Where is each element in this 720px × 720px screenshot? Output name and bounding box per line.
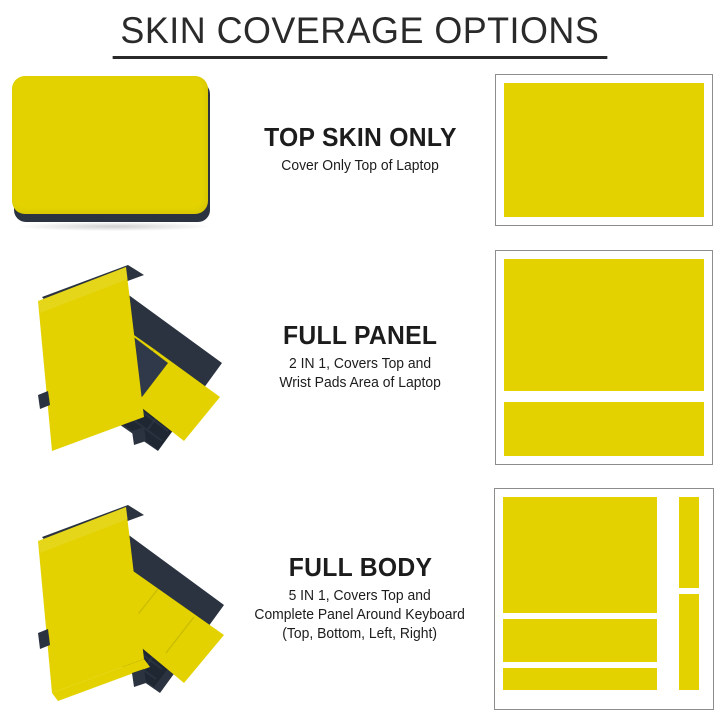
option-row-full-body: FULL BODY 5 IN 1, Covers Top and Complet… [0, 477, 720, 720]
option-description: Cover Only Top of Laptop [281, 157, 439, 176]
option-description-line: 2 IN 1, Covers Top and [279, 355, 440, 374]
option-title: FULL BODY [288, 553, 431, 582]
skin-piece-wrist-pad [504, 402, 704, 455]
option-text-full-panel: FULL PANEL 2 IN 1, Covers Top and Wrist … [232, 237, 488, 477]
page-header: SKIN COVERAGE OPTIONS [0, 0, 720, 62]
skin-piece-middle-strip [503, 619, 657, 662]
option-row-top-skin-only: TOP SKIN ONLY Cover Only Top of Laptop [0, 62, 720, 237]
option-description: 2 IN 1, Covers Top and Wrist Pads Area o… [279, 355, 440, 393]
laptop-angled-svg [8, 485, 232, 709]
coverage-diagram-top-skin-only [488, 62, 720, 237]
diagram-inner [504, 259, 704, 456]
option-description-line: Cover Only Top of Laptop [281, 157, 439, 176]
open-laptop-illustration-full-body [8, 485, 232, 709]
diagram-inner [504, 83, 704, 217]
skin-piece-top [503, 497, 657, 613]
laptop-photo-top-skin-only [0, 62, 232, 237]
diagram-frame [495, 250, 713, 465]
laptop-photo-full-body [0, 477, 232, 720]
option-text-full-body: FULL BODY 5 IN 1, Covers Top and Complet… [232, 477, 488, 720]
laptop-angled-svg [8, 245, 232, 469]
skin-piece-top [504, 259, 704, 392]
laptop-drop-shadow [18, 222, 210, 231]
option-title: FULL PANEL [283, 321, 437, 350]
skin-piece-top [504, 83, 704, 217]
option-description-line: (Top, Bottom, Left, Right) [255, 625, 465, 644]
page-title: SKIN COVERAGE OPTIONS [113, 0, 607, 59]
diagram-frame [495, 74, 713, 226]
coverage-diagram-full-panel [488, 237, 720, 477]
diagram-inner [503, 497, 705, 701]
skin-piece-bottom-strip [503, 668, 657, 690]
laptop-photo-full-panel [0, 237, 232, 477]
skin-piece-right-upper-strip [679, 497, 699, 589]
option-description-line: Wrist Pads Area of Laptop [279, 374, 440, 393]
laptop-lid-skin [12, 76, 208, 214]
option-description: 5 IN 1, Covers Top and Complete Panel Ar… [255, 587, 465, 644]
coverage-diagram-full-body [488, 477, 720, 720]
diagram-frame [494, 488, 714, 710]
option-row-full-panel: FULL PANEL 2 IN 1, Covers Top and Wrist … [0, 237, 720, 477]
skin-piece-right-lower-strip [679, 594, 699, 690]
option-description-line: 5 IN 1, Covers Top and [255, 587, 465, 606]
option-description-line: Complete Panel Around Keyboard [255, 606, 465, 625]
closed-laptop-illustration [12, 76, 212, 216]
open-laptop-illustration-full-panel [8, 245, 232, 469]
option-title: TOP SKIN ONLY [264, 123, 457, 152]
option-text-top-skin-only: TOP SKIN ONLY Cover Only Top of Laptop [232, 62, 488, 237]
